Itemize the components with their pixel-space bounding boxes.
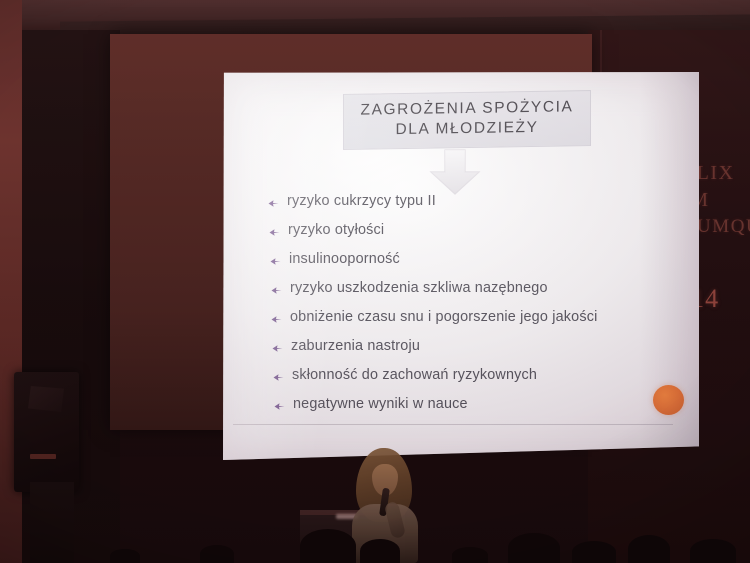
slide-bullet-list: ryzyko cukrzycy typu II ryzyko otyłości bbox=[267, 194, 687, 426]
list-item-label: ryzyko otyłości bbox=[288, 223, 384, 238]
slide-title-line-2: DLA MŁODZIEŻY bbox=[348, 118, 586, 142]
audience-head bbox=[690, 539, 736, 563]
down-block-arrow-icon bbox=[423, 148, 487, 196]
arrow-bullet-icon bbox=[268, 226, 281, 239]
list-item: negatywne wyniki w nauce bbox=[273, 397, 687, 413]
audience-head bbox=[572, 541, 616, 563]
audience-head bbox=[452, 547, 488, 563]
slide-title-line-1: ZAGROŻENIA SPOŻYCIA bbox=[348, 97, 586, 121]
audience-head bbox=[200, 545, 234, 563]
projection-screen: ZAGROŻENIA SPOŻYCIA DLA MŁODZIEŻY bbox=[223, 72, 699, 460]
list-item: insulinooporność bbox=[269, 252, 687, 268]
arrow-bullet-icon bbox=[271, 342, 284, 355]
list-item-label: ryzyko cukrzycy typu II bbox=[287, 194, 436, 209]
arrow-bullet-icon bbox=[273, 400, 286, 413]
audience-head bbox=[508, 533, 560, 563]
arrow-bullet-icon bbox=[267, 197, 280, 210]
audience-head bbox=[628, 535, 670, 563]
list-item-label: obniżenie czasu snu i pogorszenie jego j… bbox=[290, 310, 597, 325]
list-item: zaburzenia nastroju bbox=[271, 339, 687, 355]
audience-head bbox=[360, 539, 400, 563]
list-item: ryzyko uszkodzenia szkliwa nazębnego bbox=[270, 281, 687, 297]
slide-title-box: ZAGROŻENIA SPOŻYCIA DLA MŁODZIEŻY bbox=[343, 90, 591, 150]
list-item-label: skłonność do zachowań ryzykownych bbox=[292, 368, 537, 383]
list-item: skłonność do zachowań ryzykownych bbox=[272, 368, 687, 384]
list-item-label: insulinooporność bbox=[289, 252, 400, 267]
speaker-horn bbox=[28, 386, 64, 412]
speaker-brand-badge bbox=[30, 454, 56, 459]
lecture-hall-room: QUOD FELIX FAUSTUM FORTUNATUMQUE SIT ! 2… bbox=[0, 0, 750, 563]
speaker-stand bbox=[30, 482, 74, 563]
projection-screen-frame: ZAGROŻENIA SPOŻYCIA DLA MŁODZIEŻY bbox=[110, 34, 592, 430]
arrow-bullet-icon bbox=[272, 371, 285, 384]
audience-head bbox=[110, 549, 140, 563]
list-item: obniżenie czasu snu i pogorszenie jego j… bbox=[270, 310, 687, 326]
orange-circle-decoration bbox=[653, 385, 684, 415]
loudspeaker-cabinet bbox=[14, 372, 79, 492]
presentation-slide: ZAGROŻENIA SPOŻYCIA DLA MŁODZIEŻY bbox=[223, 72, 699, 460]
audience-head bbox=[300, 529, 356, 563]
arrow-bullet-icon bbox=[269, 255, 282, 268]
list-item-label: negatywne wyniki w nauce bbox=[293, 397, 468, 412]
list-item-label: ryzyko uszkodzenia szkliwa nazębnego bbox=[290, 281, 548, 296]
list-item: ryzyko otyłości bbox=[268, 223, 687, 239]
list-item: ryzyko cukrzycy typu II bbox=[267, 194, 687, 210]
list-item-label: zaburzenia nastroju bbox=[291, 339, 420, 354]
arrow-bullet-icon bbox=[270, 284, 283, 297]
slide-underline bbox=[233, 424, 673, 425]
arrow-bullet-icon bbox=[270, 313, 283, 326]
